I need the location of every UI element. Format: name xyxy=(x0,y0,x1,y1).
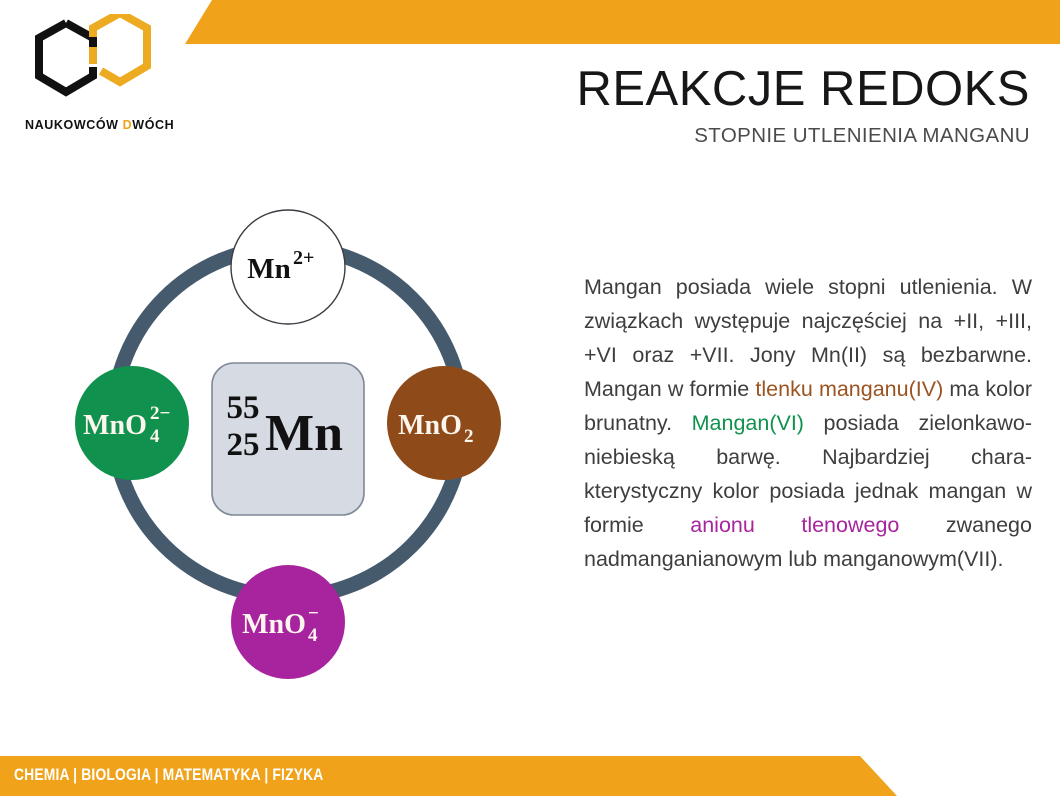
brand-wordmark-part2: WÓCH xyxy=(132,118,174,132)
node-label-top-superscript: 2+ xyxy=(293,247,314,269)
node-label-bottom-subscript: 4 xyxy=(308,625,318,646)
node-label-bottom-base: MnO xyxy=(242,609,306,640)
desc-line-11: manganowym(VII). xyxy=(823,547,1003,571)
desc-line-7: niebieską barwę. Najbardziej chara- xyxy=(584,445,1032,469)
desc-line-8: kterystyczny kolor posiada jednak xyxy=(584,479,918,503)
center-mass-number: 55 xyxy=(227,390,260,426)
node-label-bottom-superscript: − xyxy=(308,603,319,624)
desc-highlight-manganu4: manganu(IV) xyxy=(819,377,943,401)
node-label-right-subscript: 2 xyxy=(464,426,474,447)
page-subtitle: STOPNIE UTLENIENIA MANGANU xyxy=(330,124,1030,148)
brand-wordmark: NAUKOWCÓW DWÓCH xyxy=(25,118,173,132)
center-element-symbol: Mn xyxy=(265,405,343,462)
bottom-banner-stripe: CHEMIA | BIOLOGIA | MATEMATYKA | FIZYKA xyxy=(0,756,1060,796)
center-atomic-number: 25 xyxy=(227,427,260,463)
footer-subjects-label: CHEMIA | BIOLOGIA | MATEMATYKA | FIZYKA xyxy=(14,766,323,785)
node-label-right-base: MnO xyxy=(398,410,462,441)
desc-highlight-tlenku: tlenku xyxy=(755,377,812,401)
desc-highlight-anion: anionu tlenowego xyxy=(690,513,899,537)
diagram-node-mn2plus[interactable]: Mn 2+ xyxy=(231,210,345,324)
node-label-left-superscript: 2− xyxy=(150,403,170,424)
desc-line-6-plain: posiada zielonkawo- xyxy=(804,411,1032,435)
desc-highlight-mangan6: Mangan(VI) xyxy=(692,411,804,435)
description-paragraph: Mangan posiada wiele stopni utlenienia. … xyxy=(584,270,1032,576)
header-block: REAKCJE REDOKS STOPNIE UTLENIENIA MANGAN… xyxy=(330,64,1030,148)
oxidation-states-diagram: 55 25 Mn Mn 2+ MnO 2 MnO 4 − MnO 4 2− xyxy=(60,200,520,690)
brand-wordmark-accent-letter: D xyxy=(123,118,133,132)
node-label-left-base: MnO xyxy=(83,410,147,441)
brand-wordmark-part1: NAUKOWCÓW xyxy=(25,118,123,132)
hexagon-logo-icon xyxy=(22,14,172,114)
node-label-top-base: Mn xyxy=(247,253,291,285)
diagram-node-manganate[interactable]: MnO 4 2− xyxy=(75,366,189,480)
page-title: REAKCJE REDOKS xyxy=(330,64,1030,115)
brand-logo: NAUKOWCÓW DWÓCH xyxy=(22,14,172,134)
node-label-left-subscript: 4 xyxy=(150,426,160,447)
desc-line-1: Mangan posiada wiele stopni utlenienia. xyxy=(584,275,998,299)
diagram-node-mno2[interactable]: MnO 2 xyxy=(387,366,501,480)
diagram-node-permanganate[interactable]: MnO 4 − xyxy=(231,565,345,679)
